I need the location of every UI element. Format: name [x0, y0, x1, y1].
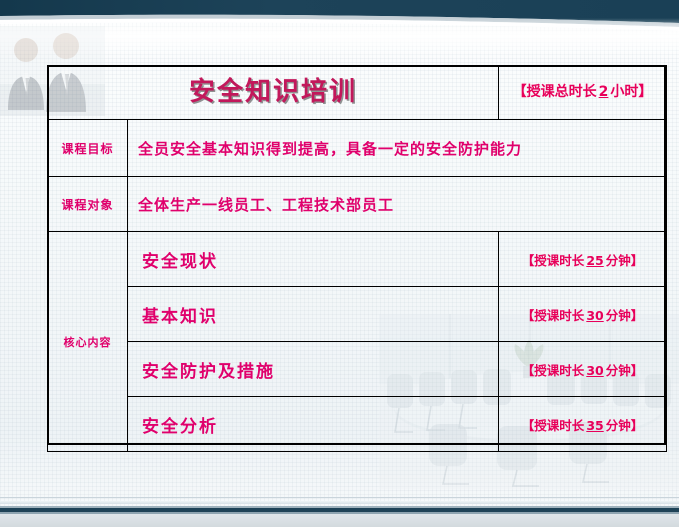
core-item-duration: 【授课时长30分钟】: [499, 305, 666, 324]
core-item-name: 安全分析: [128, 412, 498, 437]
duration-value: 25: [584, 253, 605, 268]
core-item-duration-cell: 【授课时长30分钟】: [499, 287, 667, 342]
table-row: 基本知识 【授课时长30分钟】: [48, 287, 667, 342]
bottom-decorative-bands: [0, 487, 679, 527]
core-item-duration: 【授课时长30分钟】: [499, 360, 666, 379]
course-audience-content: 全体生产一线员工、工程技术部员工: [128, 194, 666, 215]
total-duration-value: 2: [597, 84, 611, 100]
total-duration-suffix: 小时】: [610, 84, 652, 100]
duration-suffix: 分钟】: [606, 363, 644, 378]
core-item-duration: 【授课时长35分钟】: [499, 415, 666, 434]
page-title: 安全知识培训: [48, 66, 498, 119]
duration-suffix: 分钟】: [606, 308, 644, 323]
duration-prefix: 【授课时长: [522, 363, 585, 378]
duration-suffix: 分钟】: [606, 253, 644, 268]
table-row: 核心内容 安全现状 【授课时长25分钟】: [48, 232, 667, 287]
course-audience-label: 课程对象: [48, 196, 127, 213]
total-duration-cell: 【授课总时长2小时】: [499, 66, 667, 120]
course-goal-label-cell: 课程目标: [48, 120, 128, 177]
core-item-duration-cell: 【授课时长30分钟】: [499, 342, 667, 397]
course-goal-content: 全员安全基本知识得到提高，具备一定的安全防护能力: [128, 138, 666, 159]
core-item-name-cell: 基本知识: [128, 287, 499, 342]
slide-canvas: 安全知识培训 【授课总时长2小时】 课程目标 全员安全基本知识得到提高，具备一定…: [0, 0, 679, 527]
total-duration-prefix: 【授课总时长: [513, 84, 597, 100]
core-item-duration: 【授课时长25分钟】: [499, 250, 666, 269]
table-header-row: 安全知识培训 【授课总时长2小时】: [48, 66, 667, 120]
course-goal-label: 课程目标: [48, 140, 127, 157]
core-content-label: 核心内容: [48, 334, 127, 350]
course-goal-content-cell: 全员安全基本知识得到提高，具备一定的安全防护能力: [128, 120, 667, 177]
core-content-label-cell: 核心内容: [48, 232, 128, 452]
core-item-duration-cell: 【授课时长25分钟】: [499, 232, 667, 287]
core-item-name: 基本知识: [128, 302, 498, 327]
duration-value: 30: [584, 363, 605, 378]
core-item-name-cell: 安全现状: [128, 232, 499, 287]
core-item-name-cell: 安全分析: [128, 397, 499, 452]
duration-suffix: 分钟】: [606, 418, 644, 433]
core-item-name: 安全防护及措施: [128, 357, 498, 382]
course-outline-table-wrapper: 安全知识培训 【授课总时长2小时】 课程目标 全员安全基本知识得到提高，具备一定…: [47, 65, 666, 445]
total-duration-text: 【授课总时长2小时】: [499, 66, 666, 119]
table-row: 课程对象 全体生产一线员工、工程技术部员工: [48, 177, 667, 232]
core-item-duration-cell: 【授课时长35分钟】: [499, 397, 667, 452]
course-title-cell: 安全知识培训: [48, 66, 499, 120]
duration-value: 35: [584, 418, 605, 433]
table-row: 课程目标 全员安全基本知识得到提高，具备一定的安全防护能力: [48, 120, 667, 177]
duration-prefix: 【授课时长: [522, 308, 585, 323]
table-row: 安全防护及措施 【授课时长30分钟】: [48, 342, 667, 397]
course-audience-content-cell: 全体生产一线员工、工程技术部员工: [128, 177, 667, 232]
duration-prefix: 【授课时长: [522, 253, 585, 268]
core-item-name: 安全现状: [128, 247, 498, 272]
table-row: 安全分析 【授课时长35分钟】: [48, 397, 667, 452]
course-audience-label-cell: 课程对象: [48, 177, 128, 232]
course-outline-table: 安全知识培训 【授课总时长2小时】 课程目标 全员安全基本知识得到提高，具备一定…: [47, 65, 667, 452]
core-item-name-cell: 安全防护及措施: [128, 342, 499, 397]
duration-value: 30: [584, 308, 605, 323]
duration-prefix: 【授课时长: [522, 418, 585, 433]
